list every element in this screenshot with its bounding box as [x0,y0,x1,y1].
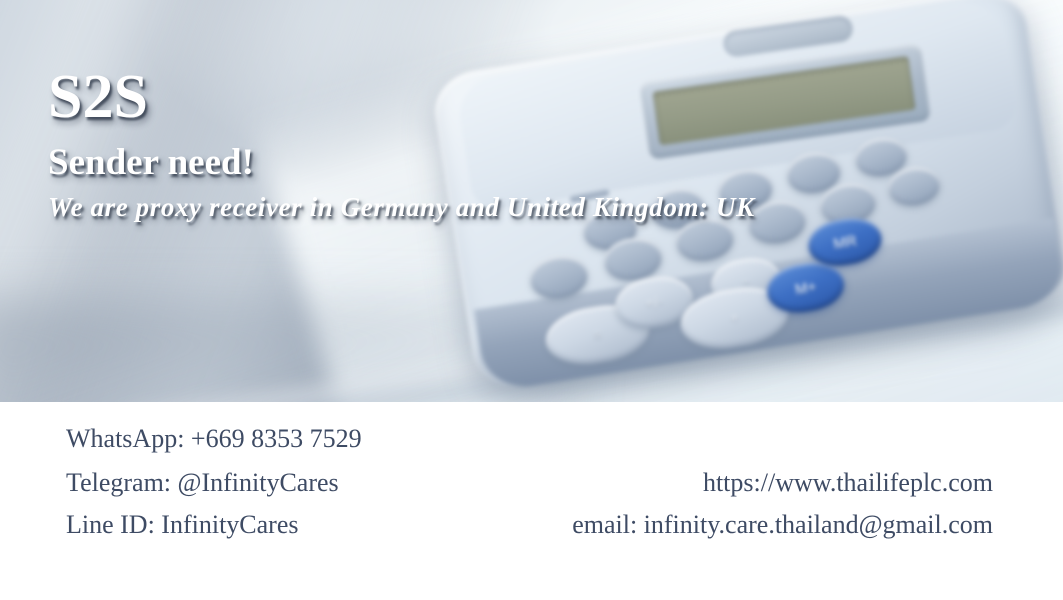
contact-telegram[interactable]: Telegram: @InfinityCares [66,468,339,498]
hero-banner: = +/- − + M+ MR S2S Sender need! We are … [0,0,1063,402]
contact-footer: WhatsApp: +669 8353 7529 Telegram: @Infi… [0,402,1063,600]
contact-website-link[interactable]: https://www.thailifeplc.com [703,468,993,498]
contact-email[interactable]: email: infinity.care.thailand@gmail.com [572,510,993,540]
contact-line-id[interactable]: Line ID: InfinityCares [66,510,299,540]
contact-whatsapp[interactable]: WhatsApp: +669 8353 7529 [66,424,362,454]
contact-grid: WhatsApp: +669 8353 7529 Telegram: @Infi… [0,402,1063,600]
business-card: = +/- − + M+ MR S2S Sender need! We are … [0,0,1063,600]
